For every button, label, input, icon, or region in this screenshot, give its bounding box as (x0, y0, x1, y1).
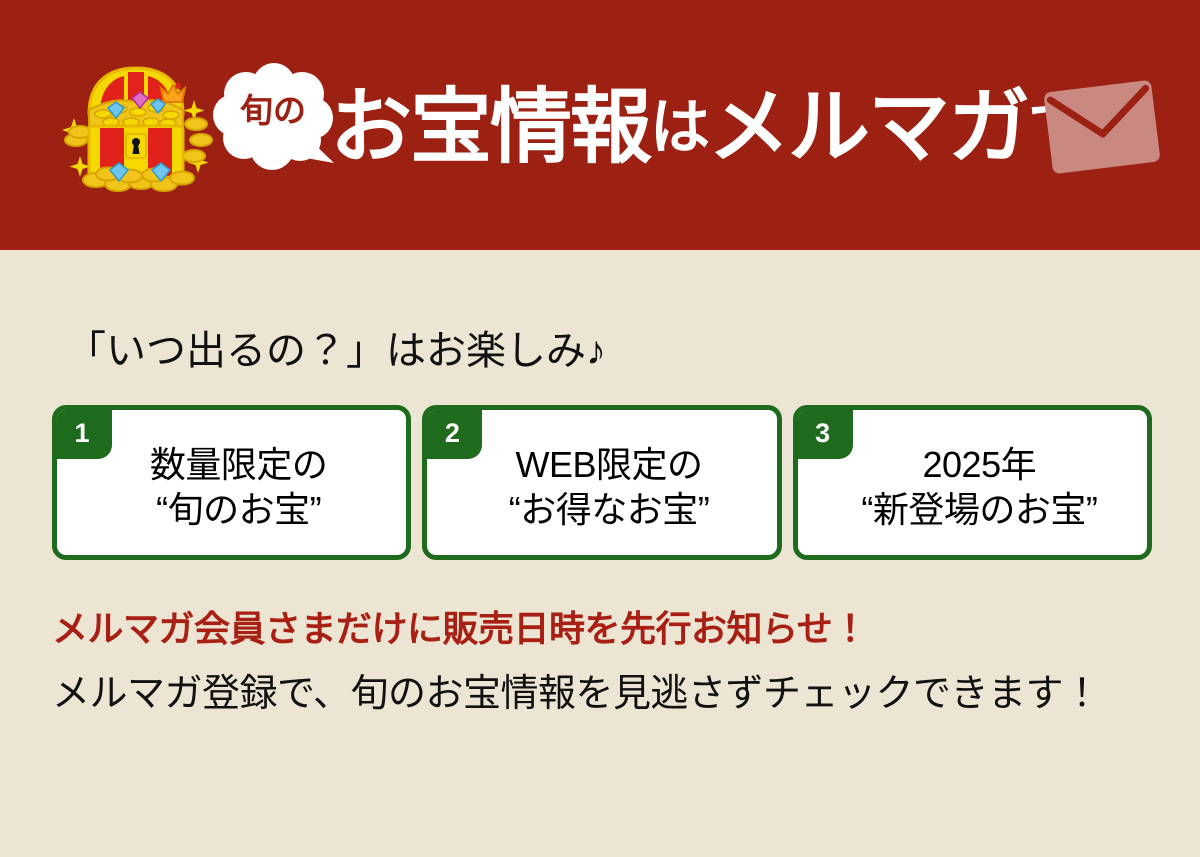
body-area: 「いつ出るの？」はお楽しみ♪ 1 数量限定の “旬のお宝” 2 WEB限定の “… (0, 250, 1200, 857)
card-line1: WEB限定の (515, 444, 702, 485)
promo-banner: 旬の お宝情報 は メルマガ で 「いつ出るの？」はお楽しみ♪ 1 数量限定の (0, 0, 1200, 857)
card-line2: “お得なお宝” (509, 487, 709, 532)
card-line1: 2025年 (923, 444, 1037, 485)
headline: お宝情報 は メルマガ で (330, 73, 1086, 183)
card-number-badge: 2 (426, 409, 482, 459)
lead-text: 「いつ出るの？」はお楽しみ♪ (66, 318, 606, 376)
feature-card[interactable]: 1 数量限定の “旬のお宝” (52, 405, 411, 560)
card-number-badge: 1 (56, 409, 112, 459)
feature-card[interactable]: 3 2025年 “新登場のお宝” (793, 405, 1152, 560)
card-line1: 数量限定の (150, 444, 328, 485)
card-text: 数量限定の “旬のお宝” (136, 434, 328, 532)
headline-part3: メルマガ (708, 87, 1028, 169)
headline-part2: は (650, 98, 708, 158)
headline-part1: お宝情報 (330, 87, 650, 169)
emphasis-text: メルマガ会員さまだけに販売日時を先行お知らせ！ (52, 600, 868, 652)
card-line2: “新登場のお宝” (861, 487, 1097, 532)
feature-card[interactable]: 2 WEB限定の “お得なお宝” (422, 405, 781, 560)
card-number-badge: 3 (797, 409, 853, 459)
card-line2: “旬のお宝” (150, 487, 328, 532)
feature-card-list: 1 数量限定の “旬のお宝” 2 WEB限定の “お得なお宝” 3 2025年 … (52, 405, 1152, 560)
card-text: WEB限定の “お得なお宝” (495, 434, 709, 532)
description-paragraph: メルマガ登録で、旬のお宝情報を見逃さずチェックできます！ (52, 668, 1157, 722)
envelope-icon (1041, 77, 1163, 176)
speech-bubble-label: 旬の (212, 62, 334, 158)
speech-bubble: 旬の (212, 62, 348, 172)
header-band: 旬の お宝情報 は メルマガ で (0, 0, 1200, 250)
treasure-chest-icon (56, 52, 216, 202)
card-text: 2025年 “新登場のお宝” (847, 434, 1097, 532)
